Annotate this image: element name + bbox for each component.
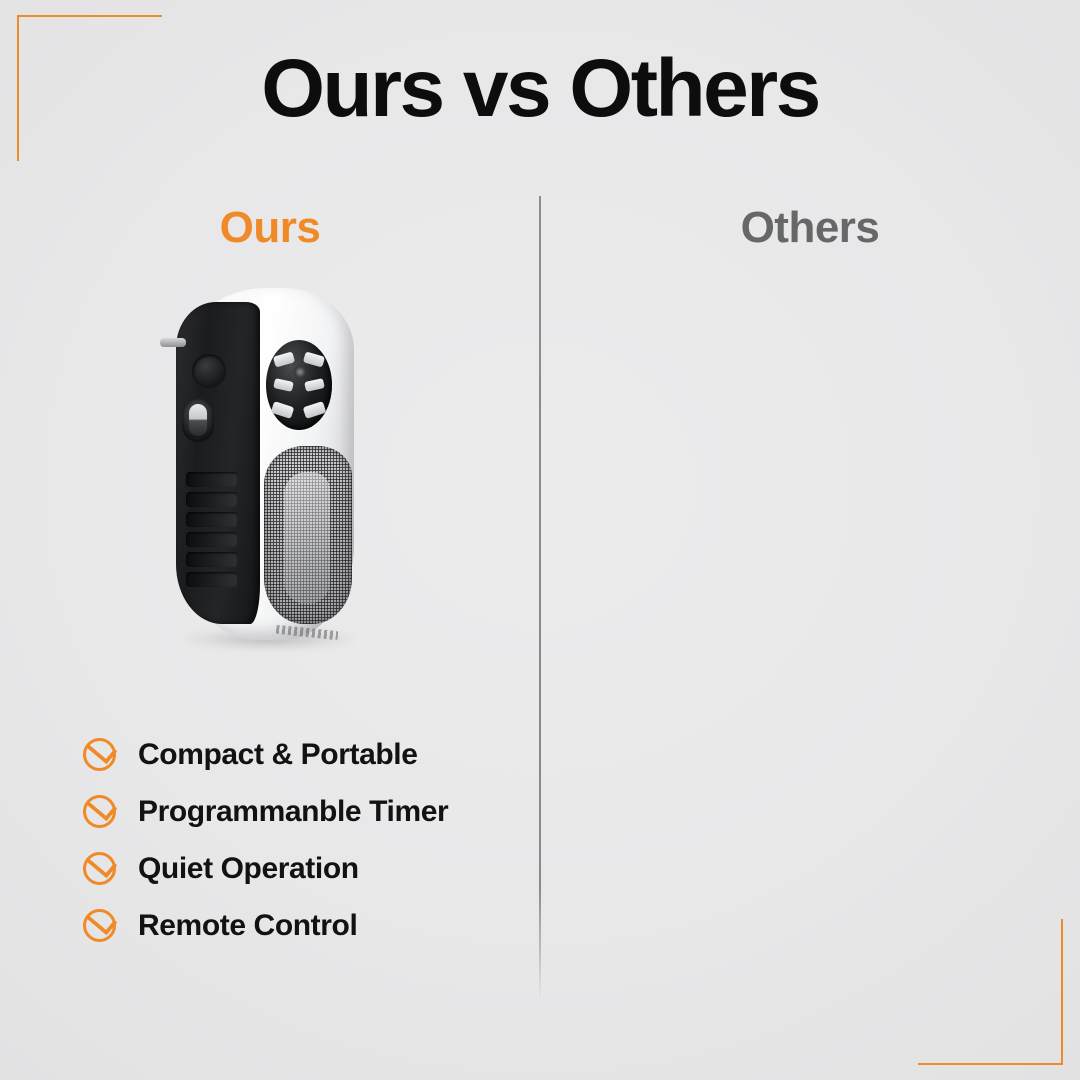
vent-slot — [186, 512, 238, 527]
check-circle-icon — [82, 737, 118, 773]
feature-label: Compact & Portable — [138, 738, 418, 772]
product-image-ours — [148, 276, 398, 676]
heater-vent-slots — [186, 472, 240, 590]
feature-label: Quiet Operation — [138, 852, 359, 886]
power-switch-rocker — [189, 404, 207, 436]
feature-label: Programmanble Timer — [138, 795, 448, 829]
column-heading-others: Others — [540, 206, 1080, 250]
vent-slot — [186, 532, 238, 547]
column-heading-ours: Ours — [0, 206, 540, 250]
list-item: Remote Control — [82, 897, 522, 954]
check-circle-icon — [82, 851, 118, 887]
comparison-infographic: Ours vs Others Ours — [0, 0, 1080, 1080]
column-others: Others — [540, 0, 1080, 1080]
feature-label: Remote Control — [138, 909, 357, 943]
feature-list-ours: Compact & Portable Programmanble Timer Q… — [82, 726, 522, 954]
heater-recess — [192, 354, 226, 388]
plug-prong-icon — [160, 338, 186, 347]
check-circle-icon — [82, 908, 118, 944]
heater-grille-highlight — [284, 472, 330, 604]
vent-slot — [186, 572, 238, 587]
column-ours: Ours — [0, 0, 540, 1080]
dial-center — [294, 366, 306, 378]
list-item: Compact & Portable — [82, 726, 522, 783]
list-item: Programmanble Timer — [82, 783, 522, 840]
check-circle-icon — [82, 794, 118, 830]
vent-slot — [186, 552, 238, 567]
vent-slot — [186, 472, 238, 487]
vent-slot — [186, 492, 238, 507]
list-item: Quiet Operation — [82, 840, 522, 897]
